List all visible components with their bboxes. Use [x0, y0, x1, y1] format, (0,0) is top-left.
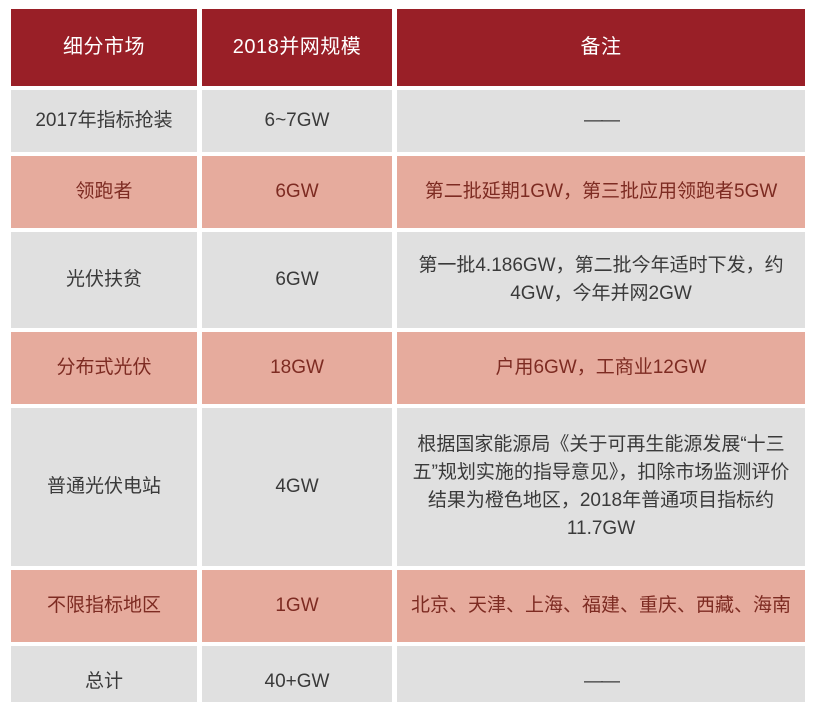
cell-remark: ——	[397, 646, 805, 702]
column-header-remark: 备注	[397, 9, 805, 86]
table-row: 分布式光伏 18GW 户用6GW，工商业12GW	[11, 332, 805, 404]
cell-remark: 第一批4.186GW，第二批今年适时下发，约4GW，今年并网2GW	[397, 232, 805, 328]
table-body: 2017年指标抢装 6~7GW —— 领跑者 6GW 第二批延期1GW，第三批应…	[11, 90, 805, 702]
cell-market: 普通光伏电站	[11, 408, 197, 566]
cell-market: 不限指标地区	[11, 570, 197, 642]
table-row: 不限指标地区 1GW 北京、天津、上海、福建、重庆、西藏、海南	[11, 570, 805, 642]
market-scale-table: 细分市场 2018并网规模 备注 2017年指标抢装 6~7GW —— 领跑者 …	[6, 5, 810, 702]
market-scale-table-container: 细分市场 2018并网规模 备注 2017年指标抢装 6~7GW —— 领跑者 …	[0, 0, 817, 702]
cell-scale: 6~7GW	[202, 90, 392, 152]
table-row: 总计 40+GW ——	[11, 646, 805, 702]
cell-scale: 6GW	[202, 232, 392, 328]
cell-scale: 4GW	[202, 408, 392, 566]
cell-scale: 6GW	[202, 156, 392, 228]
table-row: 普通光伏电站 4GW 根据国家能源局《关于可再生能源发展“十三五”规划实施的指导…	[11, 408, 805, 566]
column-header-scale: 2018并网规模	[202, 9, 392, 86]
cell-scale: 1GW	[202, 570, 392, 642]
empty-dash-text: ——	[584, 668, 618, 696]
table-header-row: 细分市场 2018并网规模 备注	[11, 9, 805, 86]
empty-dash-text: ——	[584, 107, 618, 135]
cell-market: 领跑者	[11, 156, 197, 228]
cell-remark: ——	[397, 90, 805, 152]
cell-remark: 户用6GW，工商业12GW	[397, 332, 805, 404]
cell-scale: 18GW	[202, 332, 392, 404]
cell-remark: 根据国家能源局《关于可再生能源发展“十三五”规划实施的指导意见》，扣除市场监测评…	[397, 408, 805, 566]
cell-market: 2017年指标抢装	[11, 90, 197, 152]
cell-scale: 40+GW	[202, 646, 392, 702]
cell-remark: 第二批延期1GW，第三批应用领跑者5GW	[397, 156, 805, 228]
table-header: 细分市场 2018并网规模 备注	[11, 9, 805, 86]
column-header-market: 细分市场	[11, 9, 197, 86]
cell-market: 总计	[11, 646, 197, 702]
cell-market: 光伏扶贫	[11, 232, 197, 328]
table-row: 光伏扶贫 6GW 第一批4.186GW，第二批今年适时下发，约4GW，今年并网2…	[11, 232, 805, 328]
cell-remark: 北京、天津、上海、福建、重庆、西藏、海南	[397, 570, 805, 642]
table-row: 2017年指标抢装 6~7GW ——	[11, 90, 805, 152]
cell-market: 分布式光伏	[11, 332, 197, 404]
table-row: 领跑者 6GW 第二批延期1GW，第三批应用领跑者5GW	[11, 156, 805, 228]
